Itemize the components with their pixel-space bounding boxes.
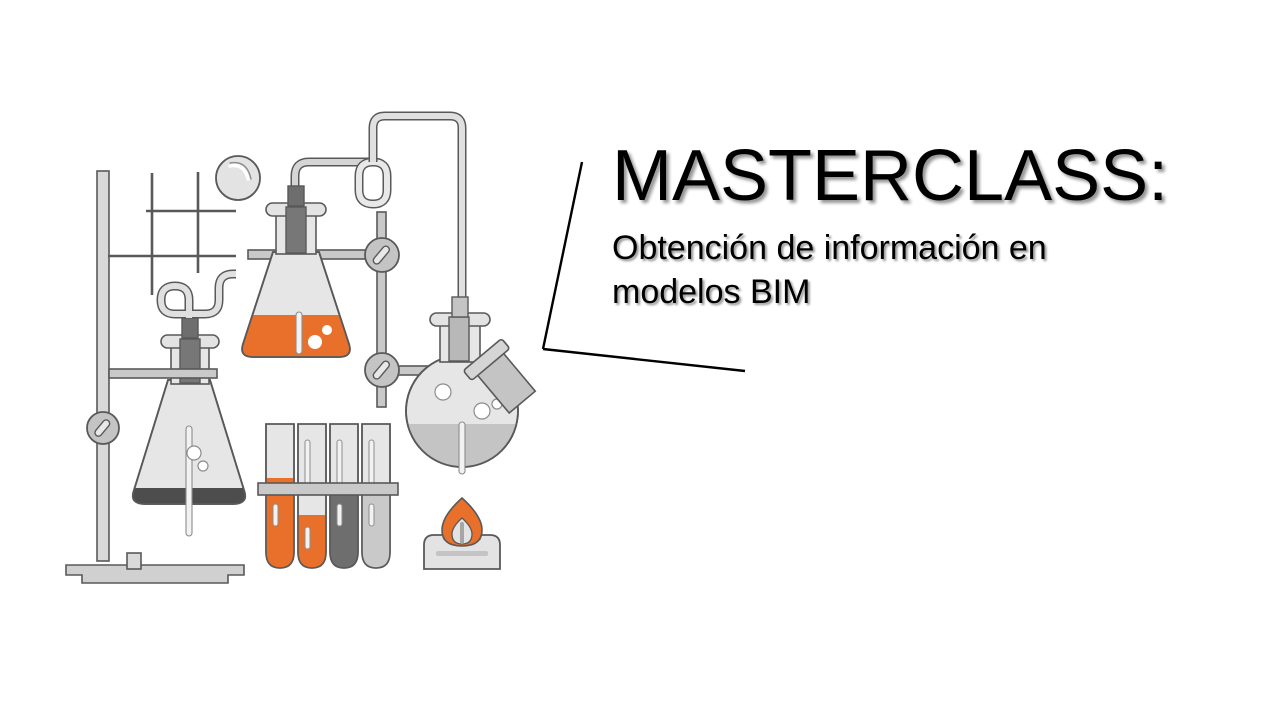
round-bottom-flask [400, 297, 541, 484]
test-tube-1 [260, 424, 302, 578]
bunsen-burner [424, 498, 500, 569]
title-text-block: MASTERCLASS: Obtención de información en… [612, 140, 1172, 314]
page-title: MASTERCLASS: [612, 140, 1172, 212]
erlenmeyer-flask-orange [230, 186, 370, 375]
glass-sphere [216, 156, 260, 200]
test-tube-3 [324, 424, 366, 584]
slide-canvas: MASTERCLASS: Obtención de información en… [0, 0, 1280, 720]
erlenmeyer-flask-dark [110, 318, 260, 558]
test-tube-2 [292, 424, 334, 585]
chemistry-lab-illustration [0, 0, 1280, 720]
pointer-line-lower [543, 349, 745, 371]
page-subtitle: Obtención de información en modelos BIM [612, 226, 1172, 314]
pointer-line-upper [543, 162, 582, 349]
subtitle-line-1: Obtención de información en [612, 226, 1172, 270]
subtitle-line-2: modelos BIM [612, 270, 1172, 314]
grid-lattice [108, 172, 236, 295]
clamp-knob-upper [365, 238, 399, 272]
test-tube-4 [356, 424, 398, 585]
looping-tube [161, 274, 236, 318]
test-tube-rack [258, 424, 398, 585]
clamp-knob-lower [365, 353, 399, 387]
